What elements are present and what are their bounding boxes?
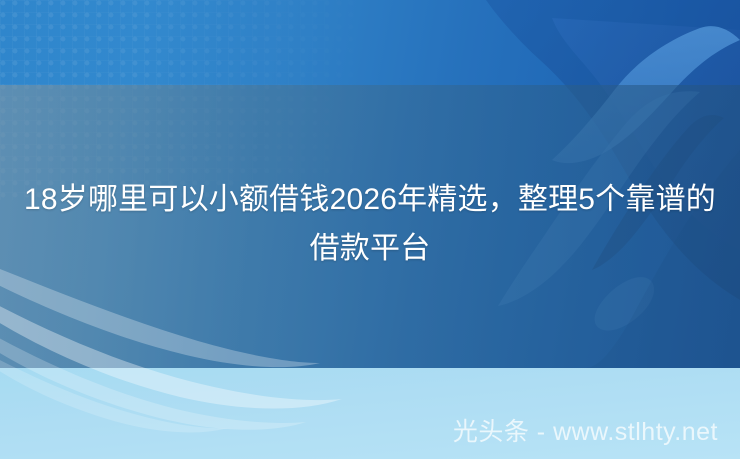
headline-text: 18岁哪里可以小额借钱2026年精选，整理5个靠谱的借款平台: [0, 175, 740, 273]
ribbon-upper: [0, 265, 320, 367]
white-ribbon-group: [0, 259, 460, 459]
ribbon-svg: [0, 259, 460, 459]
promo-banner: 18岁哪里可以小额借钱2026年精选，整理5个靠谱的借款平台 光头条 - www…: [0, 0, 740, 459]
site-watermark: 光头条 - www.stlhty.net: [453, 417, 718, 447]
